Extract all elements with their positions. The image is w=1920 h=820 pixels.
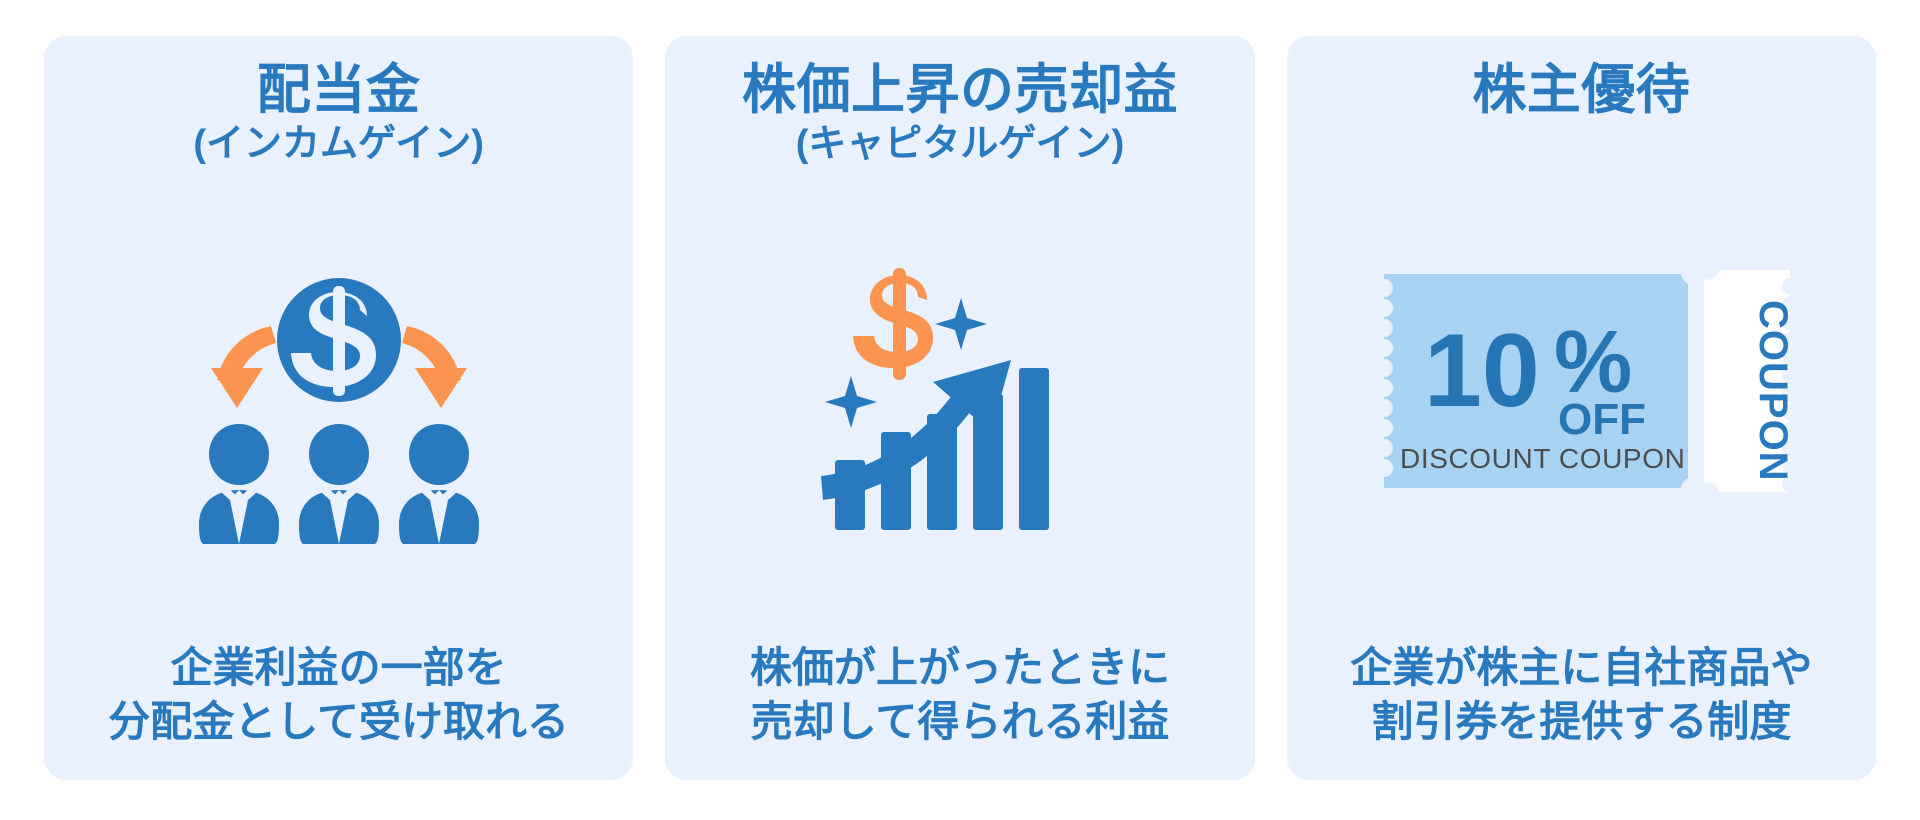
arrow-right	[402, 326, 467, 408]
card-capital-gain-title: 株価上昇の売却益	[742, 60, 1178, 120]
card-dividend-description: 企業利益の一部を 分配金として受け取れる	[108, 641, 569, 750]
growth-chart-dollar-icon	[815, 264, 1105, 544]
card-shareholder-benefit-desc-line-2: 割引券を提供する制度	[1350, 695, 1812, 750]
card-dividend-title-block: 配当金 (インカムゲイン)	[193, 60, 484, 167]
shareholder-figures	[199, 424, 479, 544]
coupon-percent-number: 10	[1424, 313, 1540, 429]
card-capital-gain-desc-line-2: 売却して得られる利益	[750, 695, 1170, 750]
coupon-stub-label: COUPON	[1751, 300, 1795, 482]
card-capital-gain-description: 株価が上がったときに 売却して得られる利益	[750, 641, 1170, 750]
card-dividend-desc-line-2: 分配金として受け取れる	[108, 695, 569, 750]
card-shareholder-benefit-title-block: 株主優待	[1472, 60, 1690, 120]
bar-chart-bars	[835, 368, 1049, 530]
card-capital-gain: 株価上昇の売却益 (キャピタルゲイン)	[665, 36, 1254, 780]
card-capital-gain-title-block: 株価上昇の売却益 (キャピタルゲイン)	[742, 60, 1178, 167]
coupon-caption: DISCOUNT COUPON	[1400, 443, 1685, 474]
dollar-sign-glyph	[853, 268, 933, 380]
dollar-coin-to-shareholders-icon	[159, 264, 519, 544]
card-shareholder-benefit-title: 株主優待	[1472, 60, 1690, 120]
card-dividend-subtitle: (インカムゲイン)	[193, 122, 484, 167]
card-dividend-art	[62, 167, 615, 641]
card-shareholder-benefit: 株主優待	[1287, 36, 1876, 780]
card-shareholder-benefit-art: 10 % OFF DISCOUNT COUPON COUPON	[1305, 120, 1858, 640]
discount-coupon-icon: 10 % OFF DISCOUNT COUPON COUPON	[1366, 266, 1796, 496]
card-shareholder-benefit-desc-line-1: 企業が株主に自社商品や	[1350, 641, 1812, 696]
arrow-left	[211, 326, 276, 408]
card-capital-gain-desc-line-1: 株価が上がったときに	[750, 641, 1170, 696]
card-dividend-desc-line-1: 企業利益の一部を	[108, 641, 569, 696]
infographic-board: 配当金 (インカムゲイン)	[0, 0, 1920, 820]
card-capital-gain-art	[683, 167, 1236, 641]
card-capital-gain-subtitle: (キャピタルゲイン)	[742, 122, 1178, 167]
card-dividend: 配当金 (インカムゲイン)	[44, 36, 633, 780]
card-shareholder-benefit-description: 企業が株主に自社商品や 割引券を提供する制度	[1350, 641, 1812, 750]
coupon-off-label: OFF	[1558, 395, 1646, 444]
card-dividend-title: 配当金	[193, 60, 484, 120]
